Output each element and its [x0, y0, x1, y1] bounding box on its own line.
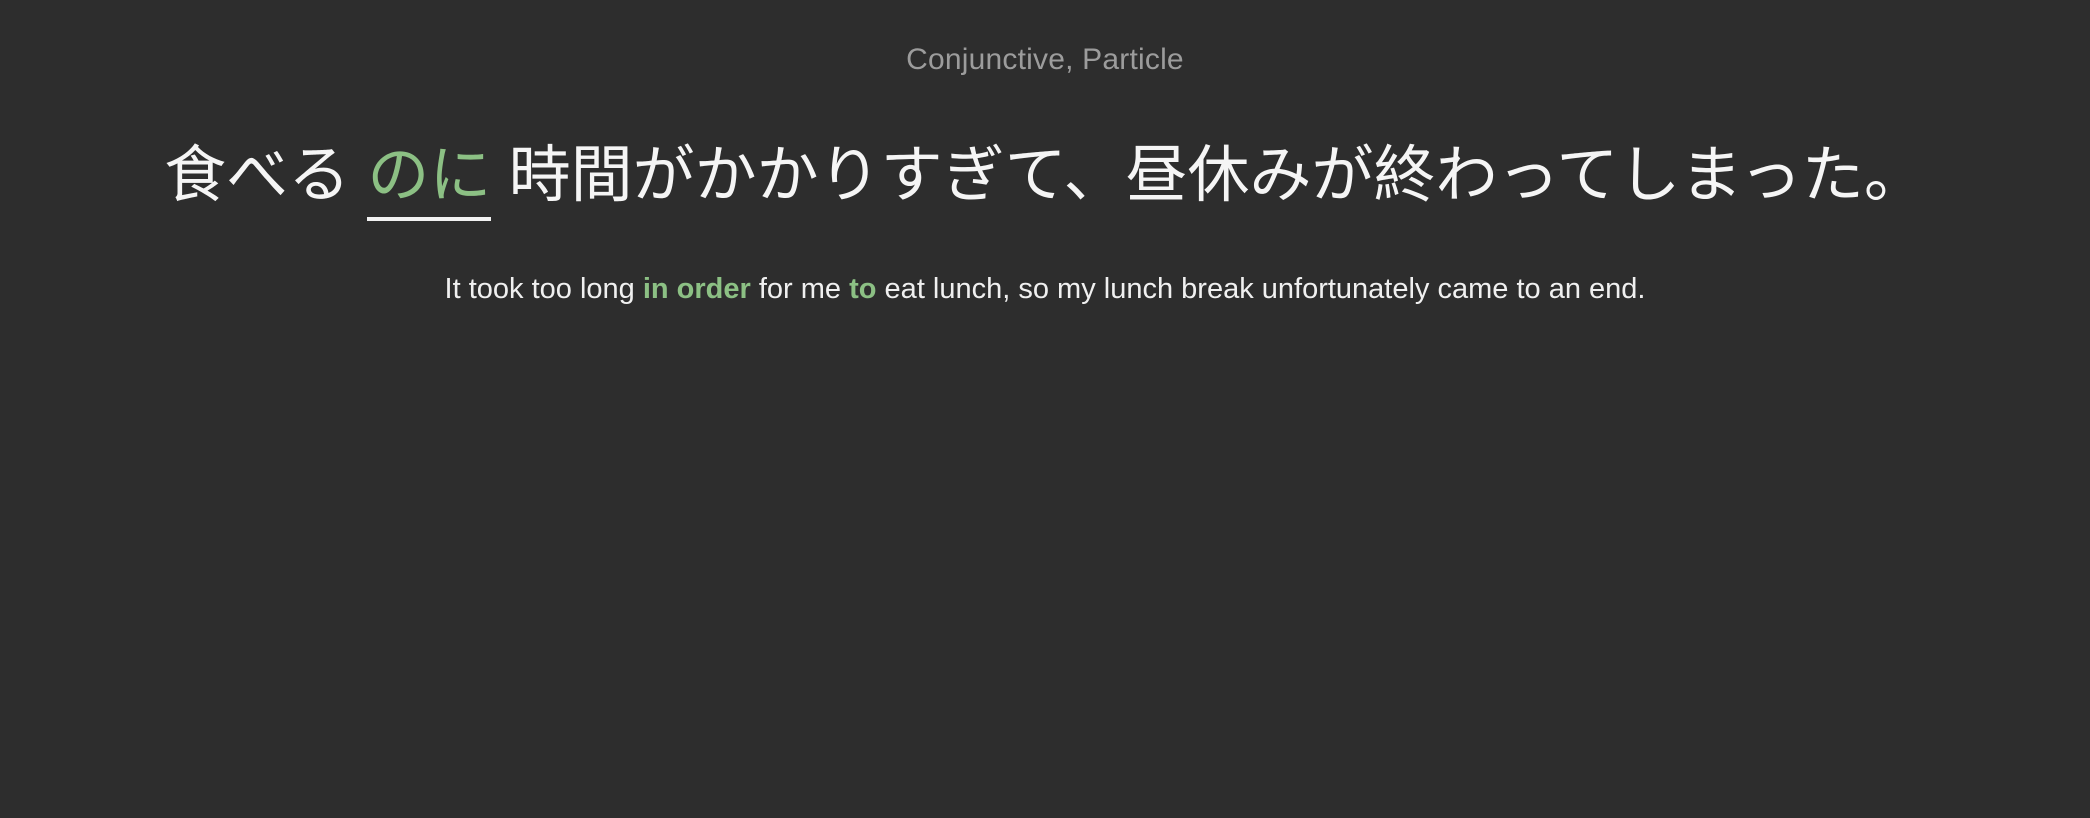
sentence-card: Conjunctive, Particle 食べる のに 時間がかかりすぎて、昼… [0, 0, 2090, 818]
translation-segment: for me [751, 273, 849, 305]
sentence-prefix: 食べる [164, 141, 350, 210]
sentence-gap-after [491, 141, 508, 210]
sentence-gap-before [350, 141, 367, 210]
translation-segment: It took too long [445, 273, 643, 305]
japanese-sentence: 食べる のに 時間がかかりすぎて、昼休みが終わってしまった。 [40, 126, 2050, 226]
translation-segment: eat lunch, so my lunch break unfortunate… [877, 273, 1646, 305]
part-of-speech-label: Conjunctive, Particle [906, 42, 1184, 78]
translation-highlight: to [849, 273, 876, 305]
english-translation: It took too long in order for me to eat … [40, 268, 2050, 310]
translation-highlight: in order [643, 273, 751, 305]
target-grammar-point[interactable]: のに [367, 145, 491, 221]
sentence-suffix: 時間がかかりすぎて、昼休みが終わってしまった。 [509, 141, 1926, 210]
